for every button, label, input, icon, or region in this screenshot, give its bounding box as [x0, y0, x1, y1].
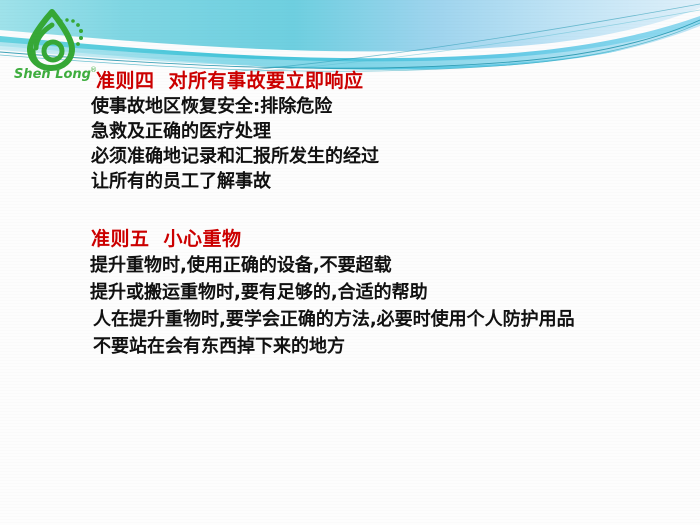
slide-content: 准则四对所有事故要立即响应 使事故地区恢复安全:排除危险 急救及正确的医疗处理 …: [0, 0, 700, 525]
rule-four-line-2: 急救及正确的医疗处理: [91, 119, 688, 144]
rule-five-title: 小心重物: [164, 228, 242, 250]
rule-four-line-4: 让所有的员工了解事故: [91, 169, 688, 194]
rule-five-line-4: 不要站在会有东西掉下来的地方: [93, 333, 697, 360]
slide-canvas: Shen Long ® 准则四对所有事故要立即响应 使事故地区恢复安全:排除危险…: [0, 0, 700, 525]
rule-five-line-3: 人在提升重物时,要学会正确的方法,必要时使用个人防护用品: [93, 306, 693, 333]
rule-four-label: 准则四: [96, 70, 155, 92]
rule-four-line-3: 必须准确地记录和汇报所发生的经过: [91, 144, 688, 169]
rule-five-line-2: 提升或搬运重物时,要有足够的,合适的帮助: [90, 279, 697, 306]
rule-five-heading: 准则五小心重物: [91, 226, 697, 252]
rule-four-line-1: 使事故地区恢复安全:排除危险: [91, 94, 688, 119]
section-rule-four: 准则四对所有事故要立即响应 使事故地区恢复安全:排除危险 急救及正确的医疗处理 …: [88, 68, 688, 194]
section-rule-five: 准则五小心重物 提升重物时,使用正确的设备,不要超载 提升或搬运重物时,要有足够…: [85, 226, 697, 360]
rule-four-title: 对所有事故要立即响应: [169, 70, 364, 92]
rule-four-heading: 准则四对所有事故要立即响应: [96, 68, 688, 94]
rule-five-label: 准则五: [91, 228, 150, 250]
rule-five-line-1: 提升重物时,使用正确的设备,不要超载: [90, 252, 697, 279]
